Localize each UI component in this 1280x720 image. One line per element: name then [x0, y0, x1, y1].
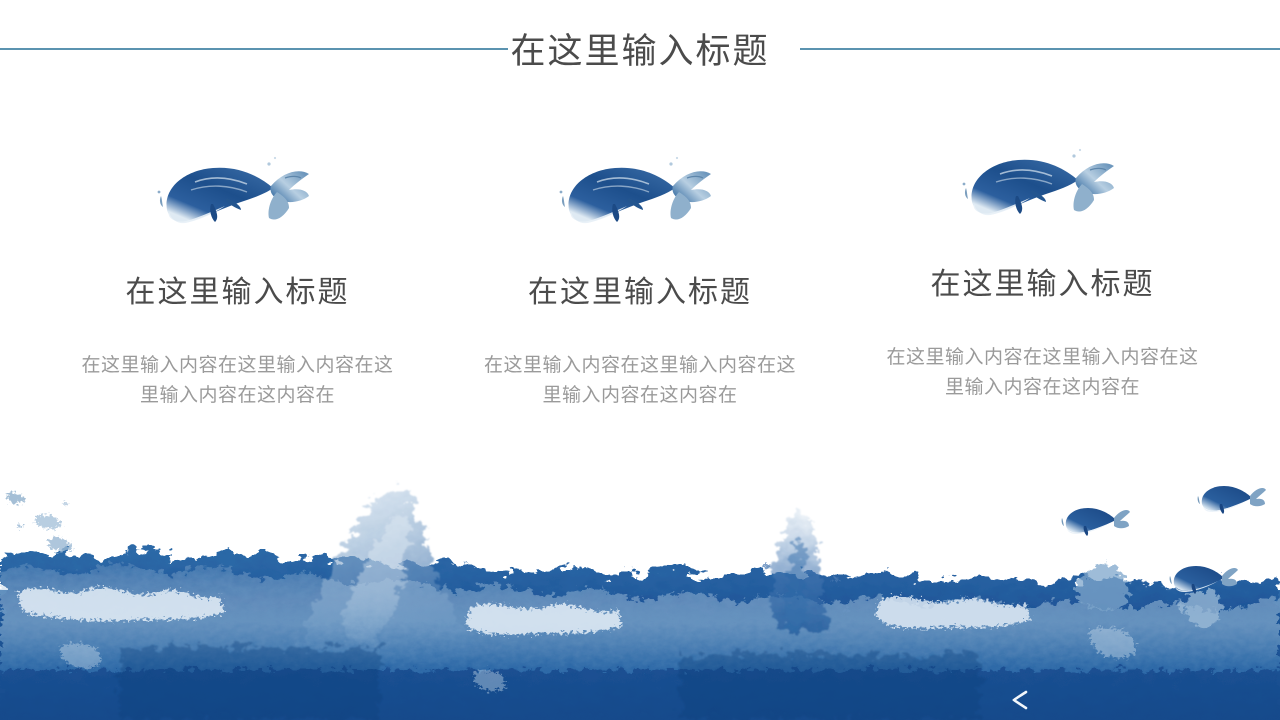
column-heading: 在这里输入标题	[126, 273, 350, 313]
column-body-text: 在这里输入内容在这里输入内容在这里输入内容在这内容在	[883, 343, 1203, 403]
mini-whale-icon	[1060, 500, 1130, 540]
content-column-1: 在这里输入标题 在这里输入内容在这里输入内容在这里输入内容在这内容在	[60, 148, 415, 411]
content-column-3: 在这里输入标题 在这里输入内容在这里输入内容在这里输入内容在这内容在	[865, 140, 1220, 403]
wave-decoration	[0, 440, 1280, 720]
slide-canvas: 在这里输入标题	[0, 0, 1280, 720]
whale-icon	[958, 140, 1128, 235]
wave-illustration	[0, 440, 1280, 720]
mini-whale-icon	[1196, 478, 1266, 518]
content-column-2: 在这里输入标题 在这里输入内容在这里输入内容在这里输入内容在这内容在	[463, 148, 818, 411]
content-columns: 在这里输入标题 在这里输入内容在这里输入内容在这里输入内容在这内容在	[60, 140, 1220, 450]
column-body-text: 在这里输入内容在这里输入内容在这里输入内容在这内容在	[480, 351, 800, 411]
whale-icon	[153, 148, 323, 243]
page-title: 在这里输入标题	[0, 30, 1280, 74]
mini-whale-icon	[1168, 558, 1238, 598]
column-body-text: 在这里输入内容在这里输入内容在这里输入内容在这内容在	[78, 351, 398, 411]
bird-icon	[1010, 690, 1032, 710]
column-heading: 在这里输入标题	[931, 265, 1155, 305]
column-heading: 在这里输入标题	[528, 273, 752, 313]
whale-icon	[555, 148, 725, 243]
slide-header: 在这里输入标题	[0, 0, 1280, 100]
